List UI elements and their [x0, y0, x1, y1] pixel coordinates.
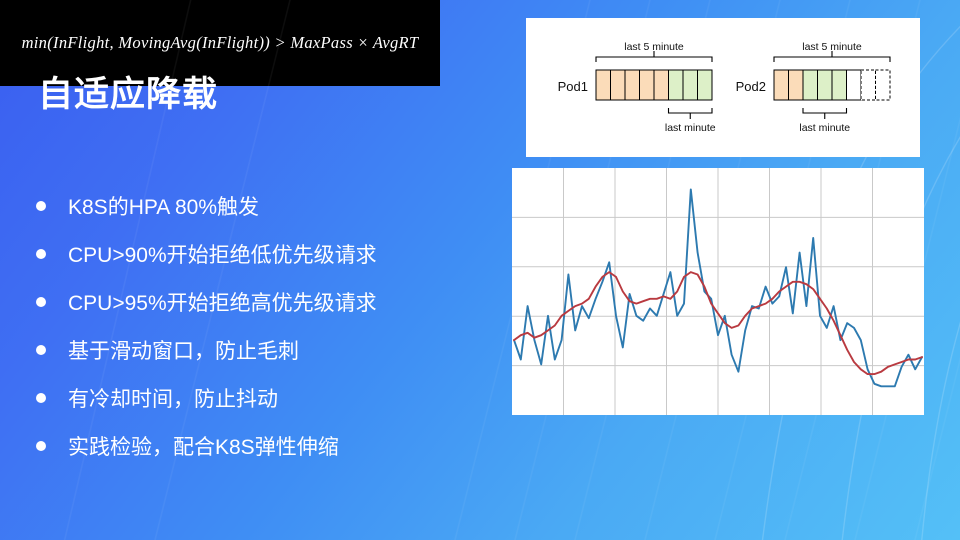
bullet-dot-icon	[36, 249, 46, 259]
sliding-window-diagram-panel: Pod1last 5 minutelast minutePod2last 5 m…	[526, 18, 920, 157]
pod-label: Pod2	[736, 79, 766, 94]
bullet-dot-icon	[36, 201, 46, 211]
window-cell-orange	[654, 70, 669, 100]
window-cell-dashed	[876, 70, 891, 100]
left-content-column: 自适应降载 K8S的HPA 80%触发 CPU>90%开始拒绝低优先级请求 CP…	[0, 0, 500, 540]
list-item: 有冷却时间，防止抖动	[36, 374, 486, 422]
slide-root: 自适应降载 K8S的HPA 80%触发 CPU>90%开始拒绝低优先级请求 CP…	[0, 0, 960, 540]
bullet-dot-icon	[36, 297, 46, 307]
list-item: CPU>90%开始拒绝低优先级请求	[36, 230, 486, 278]
list-item: 基于滑动窗口，防止毛刺	[36, 326, 486, 374]
bullet-dot-icon	[36, 393, 46, 403]
bracket-bottom	[669, 108, 713, 119]
bracket-bottom	[803, 108, 847, 119]
bullet-dot-icon	[36, 441, 46, 451]
list-item: K8S的HPA 80%触发	[36, 182, 486, 230]
bullet-text: 有冷却时间，防止抖动	[68, 383, 278, 413]
page-title: 自适应降载	[38, 66, 218, 117]
pod-label: Pod1	[558, 79, 588, 94]
bracket-top-label: last 5 minute	[624, 41, 684, 53]
window-cell-orange	[611, 70, 626, 100]
bullet-text: K8S的HPA 80%触发	[68, 191, 259, 221]
bullet-text: 实践检验，配合K8S弹性伸缩	[68, 431, 339, 461]
window-cell-green	[803, 70, 818, 100]
sliding-window-diagram: Pod1last 5 minutelast minutePod2last 5 m…	[526, 18, 920, 157]
window-cell-green	[669, 70, 684, 100]
bullet-dot-icon	[36, 345, 46, 355]
bracket-top-label: last 5 minute	[802, 41, 862, 53]
window-cell-dashed	[861, 70, 876, 100]
window-cell-green	[832, 70, 847, 100]
window-cell-orange	[596, 70, 611, 100]
bullet-list: K8S的HPA 80%触发 CPU>90%开始拒绝低优先级请求 CPU>95%开…	[36, 182, 486, 470]
window-cell-green	[683, 70, 698, 100]
bullet-text: CPU>95%开始拒绝高优先级请求	[68, 287, 377, 317]
inflight-line-chart	[512, 168, 924, 415]
window-cell-empty	[847, 70, 862, 100]
window-cell-orange	[640, 70, 655, 100]
chart-panel	[512, 168, 924, 415]
bullet-text: 基于滑动窗口，防止毛刺	[68, 335, 299, 365]
bracket-bottom-label: last minute	[799, 122, 850, 134]
window-cell-green	[818, 70, 833, 100]
window-cell-orange	[774, 70, 789, 100]
window-cell-orange	[625, 70, 640, 100]
list-item: 实践检验，配合K8S弹性伸缩	[36, 422, 486, 470]
window-cell-orange	[789, 70, 804, 100]
bracket-bottom-label: last minute	[665, 122, 716, 134]
bullet-text: CPU>90%开始拒绝低优先级请求	[68, 239, 377, 269]
window-cell-green	[698, 70, 713, 100]
list-item: CPU>95%开始拒绝高优先级请求	[36, 278, 486, 326]
